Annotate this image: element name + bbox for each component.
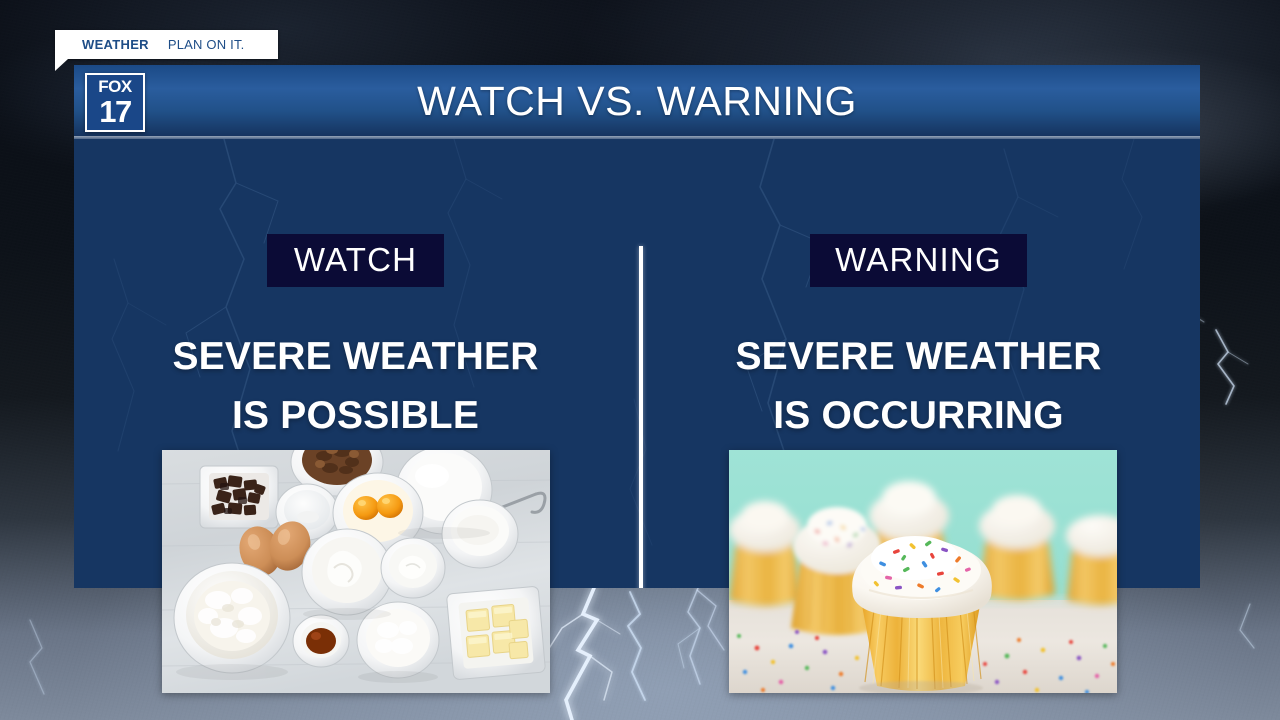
watch-tag-box: WATCH — [267, 234, 444, 287]
watch-headline-line1: SEVERE WEATHER — [172, 327, 538, 386]
weather-brand-badge: WEATHER PLAN ON IT. — [55, 30, 278, 59]
watch-headline-line2: IS POSSIBLE — [172, 386, 538, 445]
weather-badge-notch — [55, 59, 68, 71]
warning-tag-box: WARNING — [810, 234, 1027, 287]
baking-ingredients-photo — [162, 450, 550, 693]
weather-badge-word: WEATHER — [82, 37, 149, 52]
fox-logo-number: 17 — [99, 96, 130, 127]
page-title: WATCH VS. WARNING — [417, 81, 857, 124]
warning-headline-line2: IS OCCURRING — [735, 386, 1101, 445]
weather-badge-tagline: PLAN ON IT. — [168, 37, 245, 52]
fox-logo-word: FOX — [98, 78, 131, 95]
fox17-logo: FOX 17 — [85, 73, 145, 132]
warning-headline-line1: SEVERE WEATHER — [735, 327, 1101, 386]
warning-headline: SEVERE WEATHER IS OCCURRING — [735, 327, 1101, 446]
watch-headline: SEVERE WEATHER IS POSSIBLE — [172, 327, 538, 446]
weather-graphic: WEATHER PLAN ON IT. — [0, 0, 1280, 720]
panel-header-bar: WATCH VS. WARNING — [74, 65, 1200, 139]
cupcakes-photo — [729, 450, 1117, 693]
